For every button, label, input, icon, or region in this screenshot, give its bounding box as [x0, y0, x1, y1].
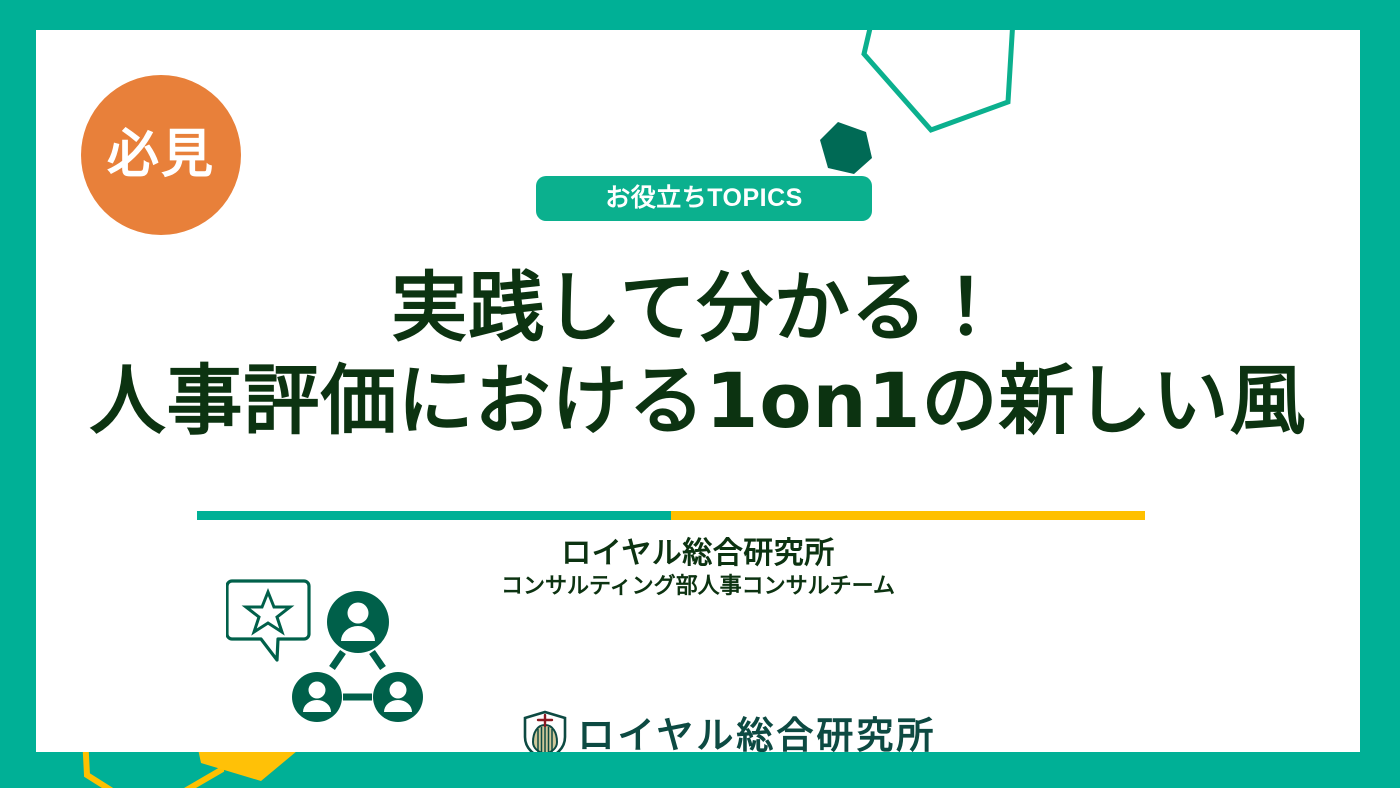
divider-bar — [197, 511, 1145, 520]
topics-pill-badge: お役立ちTOPICS — [536, 176, 872, 221]
divider-bar-right — [671, 511, 1145, 520]
person-avatar-icon — [292, 672, 342, 722]
slide-canvas: 必見 お役立ちTOPICS 実践して分かる！ 人事評価における1on1の新しい風… — [0, 0, 1400, 788]
speech-bubble-star-icon — [227, 581, 309, 660]
shield-crest-icon — [522, 709, 568, 752]
company-logo-text: ロイヤル総合研究所 — [578, 717, 937, 753]
must-see-badge: 必見 — [81, 75, 241, 235]
person-avatar-icon — [373, 672, 423, 722]
pentagon-outline-shape-icon — [856, 30, 1036, 150]
topics-pill-label: お役立ちTOPICS — [605, 186, 803, 211]
divider-bar-left — [197, 511, 671, 520]
company-logo: ロイヤル総合研究所 — [514, 706, 944, 752]
title-line-2: 人事評価における1on1の新しい風 — [36, 355, 1360, 448]
people-network-illustration — [226, 575, 441, 730]
person-avatar-icon — [327, 591, 389, 653]
page-title: 実践して分かる！ 人事評価における1on1の新しい風 — [36, 262, 1360, 447]
must-see-badge-label: 必見 — [107, 129, 215, 181]
organization-name: ロイヤル総合研究所 — [36, 535, 1360, 573]
title-line-1: 実践して分かる！ — [36, 262, 1360, 355]
content-card: 必見 お役立ちTOPICS 実践して分かる！ 人事評価における1on1の新しい風… — [36, 30, 1360, 752]
hexagon-filled-shape-icon — [818, 120, 874, 176]
